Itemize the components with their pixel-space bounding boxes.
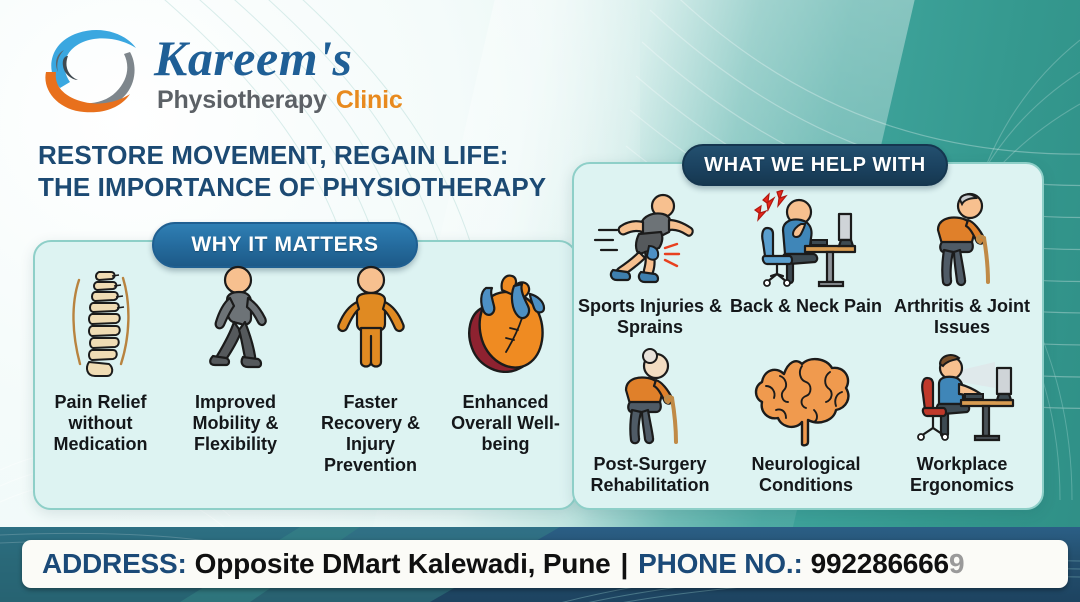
phone-label: PHONE NO.: <box>638 548 802 580</box>
help-item-arthritis: Arthritis & Joint Issues <box>884 186 1040 344</box>
help-item-sports-injuries: Sports Injuries & Sprains <box>572 186 728 344</box>
what-we-help-with-badge: WHAT WE HELP WITH <box>682 144 948 186</box>
desk-neck-pain-icon <box>743 186 869 290</box>
running-injury-icon <box>591 186 709 290</box>
help-item-label: Post-Surgery Rehabilitation <box>572 454 728 496</box>
brand-sub-accent: Clinic <box>336 88 403 113</box>
help-item-label: Back & Neck Pain <box>730 296 882 317</box>
help-items-grid: Sports Injuries & Sprains <box>572 186 1040 502</box>
contact-footer-bar: ADDRESS: Opposite DMart Kalewadi, Pune |… <box>0 527 1080 602</box>
why-item-pain-relief: Pain Relief without Medication <box>33 250 168 455</box>
brand-sub-primary: Physiotherapy <box>157 88 327 113</box>
footer-separator: | <box>610 548 638 580</box>
why-item-faster-recovery: Faster Recovery & Injury Prevention <box>303 250 438 476</box>
spine-icon <box>59 250 143 382</box>
swoosh-circle-logo-icon <box>34 22 146 117</box>
contact-info-pill: ADDRESS: Opposite DMart Kalewadi, Pune |… <box>22 540 1068 588</box>
help-item-label: Sports Injuries & Sprains <box>572 296 728 338</box>
phone-value-tail: 9 <box>949 548 964 580</box>
why-item-mobility: Improved Mobility & Flexibility <box>168 250 303 455</box>
phone-value: 992286666 <box>811 548 949 580</box>
page-title: RESTORE MOVEMENT, REGAIN LIFE: THE IMPOR… <box>38 140 578 203</box>
why-item-label: Pain Relief without Medication <box>33 392 168 455</box>
why-item-wellbeing: Enhanced Overall Well-being <box>438 250 573 455</box>
brand-name: Kareem's <box>154 33 403 83</box>
why-items-grid: Pain Relief without Medication Improved … <box>33 250 573 502</box>
address-value: Opposite DMart Kalewadi, Pune <box>195 548 611 580</box>
help-item-label: Workplace Ergonomics <box>884 454 1040 496</box>
elderly-cane-icon <box>912 186 1012 290</box>
headline-line-1: RESTORE MOVEMENT, REGAIN LIFE: <box>38 140 578 172</box>
why-item-label: Faster Recovery & Injury Prevention <box>303 392 438 476</box>
help-item-label: Neurological Conditions <box>728 454 884 496</box>
address-label: ADDRESS: <box>42 548 187 580</box>
ergonomic-desk-icon <box>899 344 1025 448</box>
why-item-label: Enhanced Overall Well-being <box>438 392 573 455</box>
help-item-post-surgery: Post-Surgery Rehabilitation <box>572 344 728 502</box>
elderly-walking-icon <box>600 344 700 448</box>
brain-icon <box>750 344 862 448</box>
help-item-label: Arthritis & Joint Issues <box>884 296 1040 338</box>
standing-person-icon <box>325 250 417 382</box>
headline-line-2: THE IMPORTANCE OF PHYSIOTHERAPY <box>38 172 578 204</box>
walking-person-icon <box>193 250 279 382</box>
infographic-poster: Kareem's Physiotherapy Clinic RESTORE MO… <box>0 0 1080 602</box>
contact-info-text: ADDRESS: Opposite DMart Kalewadi, Pune |… <box>22 548 964 580</box>
why-item-label: Improved Mobility & Flexibility <box>168 392 303 455</box>
help-item-workplace-ergonomics: Workplace Ergonomics <box>884 344 1040 502</box>
brand-logo: Kareem's Physiotherapy Clinic <box>34 22 403 117</box>
help-item-neurological: Neurological Conditions <box>728 344 884 502</box>
heart-icon <box>452 250 560 382</box>
help-item-back-neck-pain: Back & Neck Pain <box>728 186 884 344</box>
